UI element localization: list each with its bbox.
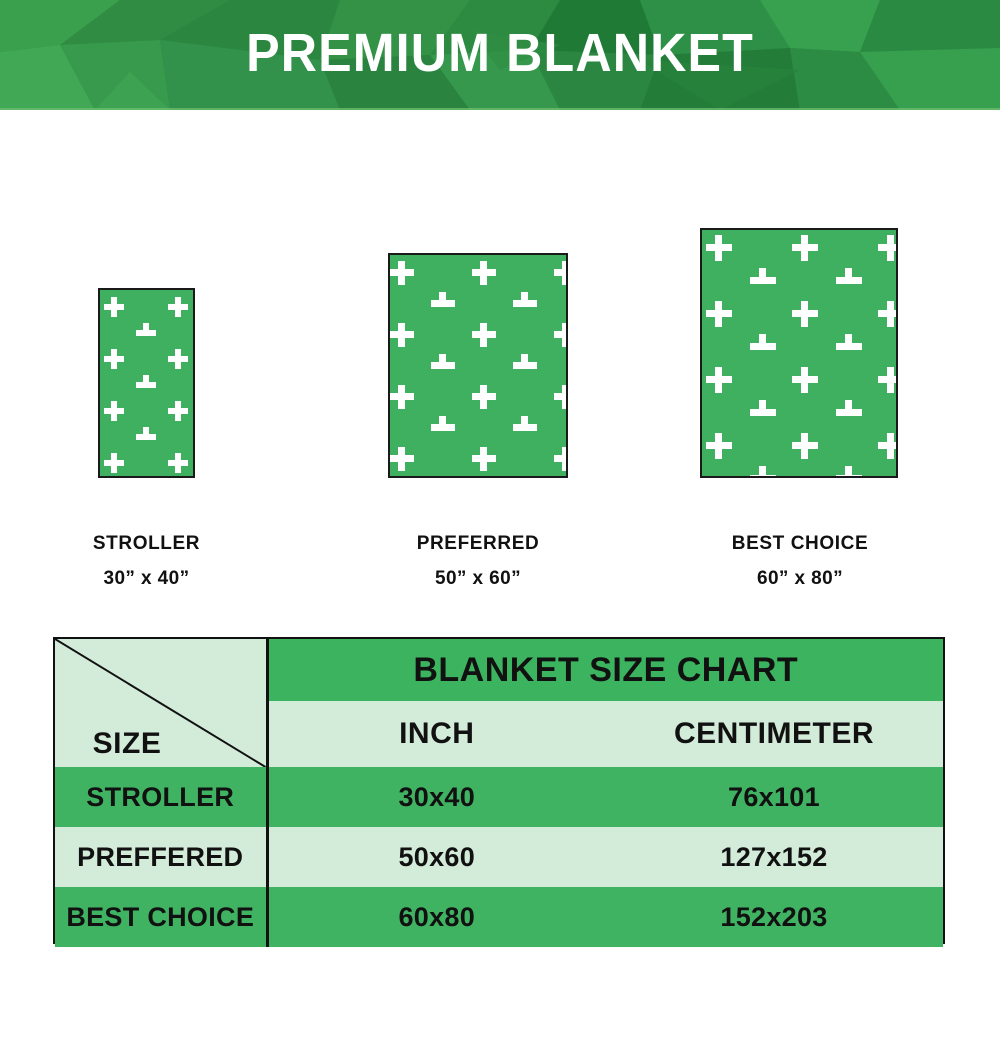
- row-inch-stroller: 30x40: [267, 767, 605, 827]
- row-inch-best-choice: 60x80: [267, 887, 605, 947]
- swatch-item-best-choice: BEST CHOICE 60” x 80”: [660, 110, 940, 630]
- swatch-dimensions-stroller: 30” x 40”: [38, 569, 255, 590]
- row-centimeter-stroller: 76x101: [605, 767, 943, 827]
- swatch-name-best-choice: BEST CHOICE: [660, 534, 940, 555]
- table-row: BEST CHOICE 60x80 152x203: [55, 887, 943, 947]
- row-inch-preffered: 50x60: [267, 827, 605, 887]
- table-title-row: SIZE BLANKET SIZE CHART: [55, 639, 943, 701]
- plus-pattern-best-choice: [702, 230, 898, 478]
- swatch-item-preferred: PREFERRED 50” x 60”: [338, 110, 618, 630]
- swatch-labels-stroller: STROLLER 30” x 40”: [38, 534, 255, 590]
- swatch-dimensions-preferred: 50” x 60”: [338, 569, 618, 590]
- table-title: BLANKET SIZE CHART: [267, 639, 943, 701]
- row-size-stroller: STROLLER: [55, 767, 267, 827]
- swatch-name-stroller: STROLLER: [38, 534, 255, 555]
- table-row: PREFFERED 50x60 127x152: [55, 827, 943, 887]
- table-row: STROLLER 30x40 76x101: [55, 767, 943, 827]
- banner-title: PREMIUM BLANKET: [35, 0, 965, 110]
- row-size-best-choice: BEST CHOICE: [55, 887, 267, 947]
- column-header-inch: INCH: [267, 701, 605, 767]
- blanket-swatch-best-choice: [700, 228, 898, 478]
- swatch-labels-preferred: PREFERRED 50” x 60”: [338, 534, 618, 590]
- header-banner: PREMIUM BLANKET: [0, 0, 1000, 110]
- swatch-labels-best-choice: BEST CHOICE 60” x 80”: [660, 534, 940, 590]
- row-centimeter-preffered: 127x152: [605, 827, 943, 887]
- corner-size-cell: SIZE: [55, 639, 267, 767]
- plus-pattern-stroller: [100, 290, 195, 478]
- blanket-swatch-preferred: [388, 253, 568, 478]
- swatch-name-preferred: PREFERRED: [338, 534, 618, 555]
- swatch-dimensions-best-choice: 60” x 80”: [660, 569, 940, 590]
- blanket-size-chart-table: SIZE BLANKET SIZE CHART INCH CENTIMETER …: [53, 637, 945, 944]
- column-header-centimeter: CENTIMETER: [605, 701, 943, 767]
- blanket-swatch-stroller: [98, 288, 195, 478]
- corner-size-label: SIZE: [67, 727, 187, 761]
- blanket-swatch-row: STROLLER 30” x 40”: [0, 110, 1000, 630]
- row-centimeter-best-choice: 152x203: [605, 887, 943, 947]
- swatch-item-stroller: STROLLER 30” x 40”: [38, 110, 255, 630]
- plus-pattern-preferred: [390, 255, 568, 478]
- row-size-preffered: PREFFERED: [55, 827, 267, 887]
